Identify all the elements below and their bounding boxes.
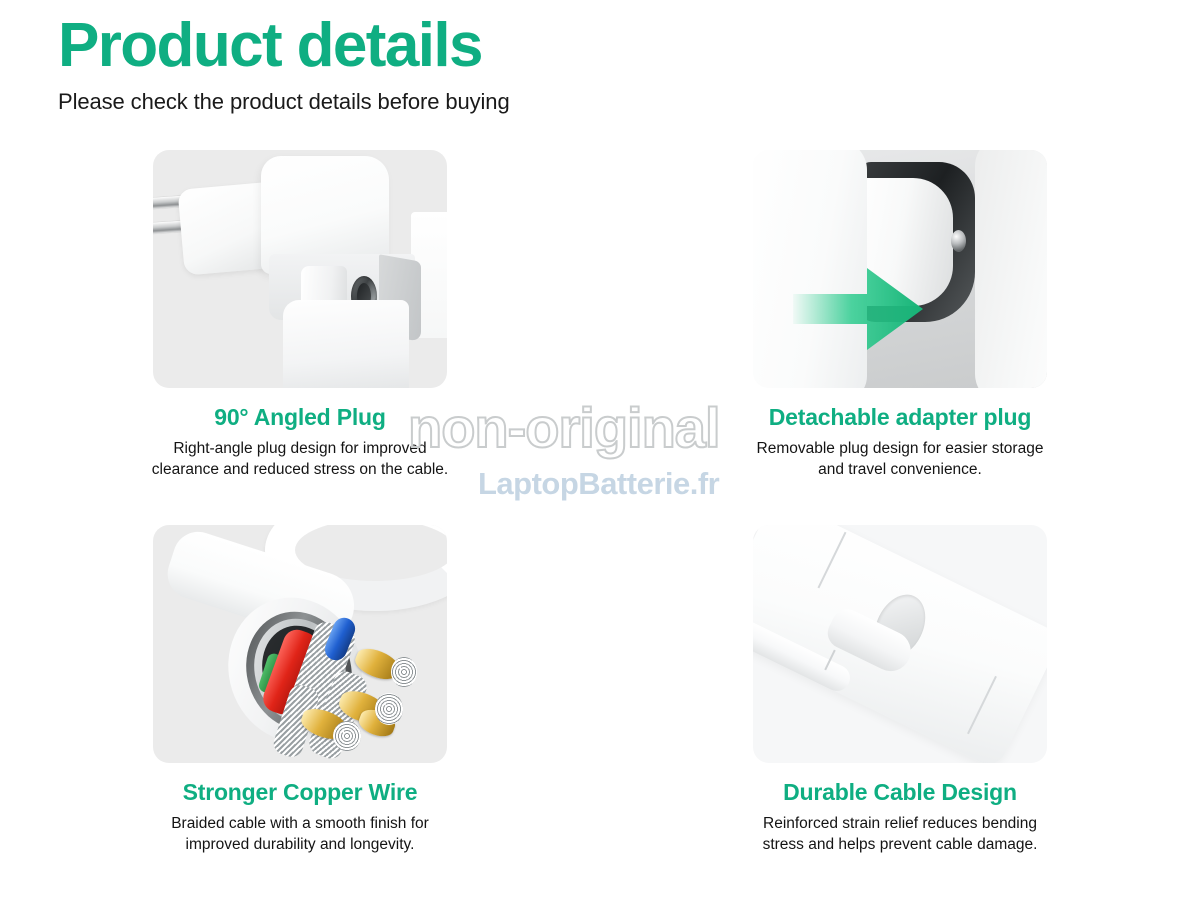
feature-grid: 90° Angled Plug Right-angle plug design … — [0, 150, 1200, 856]
feature-card-angled-plug: 90° Angled Plug Right-angle plug design … — [0, 150, 600, 481]
feature-card-copper-wire: Stronger Copper Wire Braided cable with … — [0, 525, 600, 856]
feature-card-durable-cable: Durable Cable Design Reinforced strain r… — [600, 525, 1200, 856]
feature-title-angled-plug: 90° Angled Plug — [214, 404, 385, 431]
page-title: Product details — [58, 14, 510, 77]
page-header: Product details Please check the product… — [58, 14, 510, 115]
green-arrow-icon — [793, 266, 923, 352]
product-details-page: Product details Please check the product… — [0, 0, 1200, 900]
copper-strand-end-1-shape — [391, 657, 417, 687]
detachable-adapter-plug-photo — [753, 150, 1047, 388]
feature-title-copper-wire: Stronger Copper Wire — [183, 779, 418, 806]
cable-strain-relief-photo — [753, 525, 1047, 763]
angled-eu-plug-photo — [153, 150, 447, 388]
adapter-outer-shell-shape — [975, 150, 1047, 388]
feature-title-durable-cable: Durable Cable Design — [783, 779, 1017, 806]
page-subtitle: Please check the product details before … — [58, 89, 510, 115]
adapter-lower-body-shape — [283, 300, 409, 388]
copper-strand-end-2-shape — [375, 693, 403, 725]
feature-description-durable-cable: Reinforced strain relief reduces bending… — [750, 814, 1050, 856]
copper-wire-cutaway-photo — [153, 525, 447, 763]
feature-description-copper-wire: Braided cable with a smooth finish for i… — [150, 814, 450, 856]
screw-head-icon — [951, 230, 966, 252]
feature-description-detachable-plug: Removable plug design for easier storage… — [750, 439, 1050, 481]
feature-description-angled-plug: Right-angle plug design for improved cle… — [150, 439, 450, 481]
copper-strand-end-3-shape — [333, 721, 361, 751]
feature-title-detachable-plug: Detachable adapter plug — [769, 404, 1032, 431]
feature-card-detachable-plug: Detachable adapter plug Removable plug d… — [600, 150, 1200, 481]
